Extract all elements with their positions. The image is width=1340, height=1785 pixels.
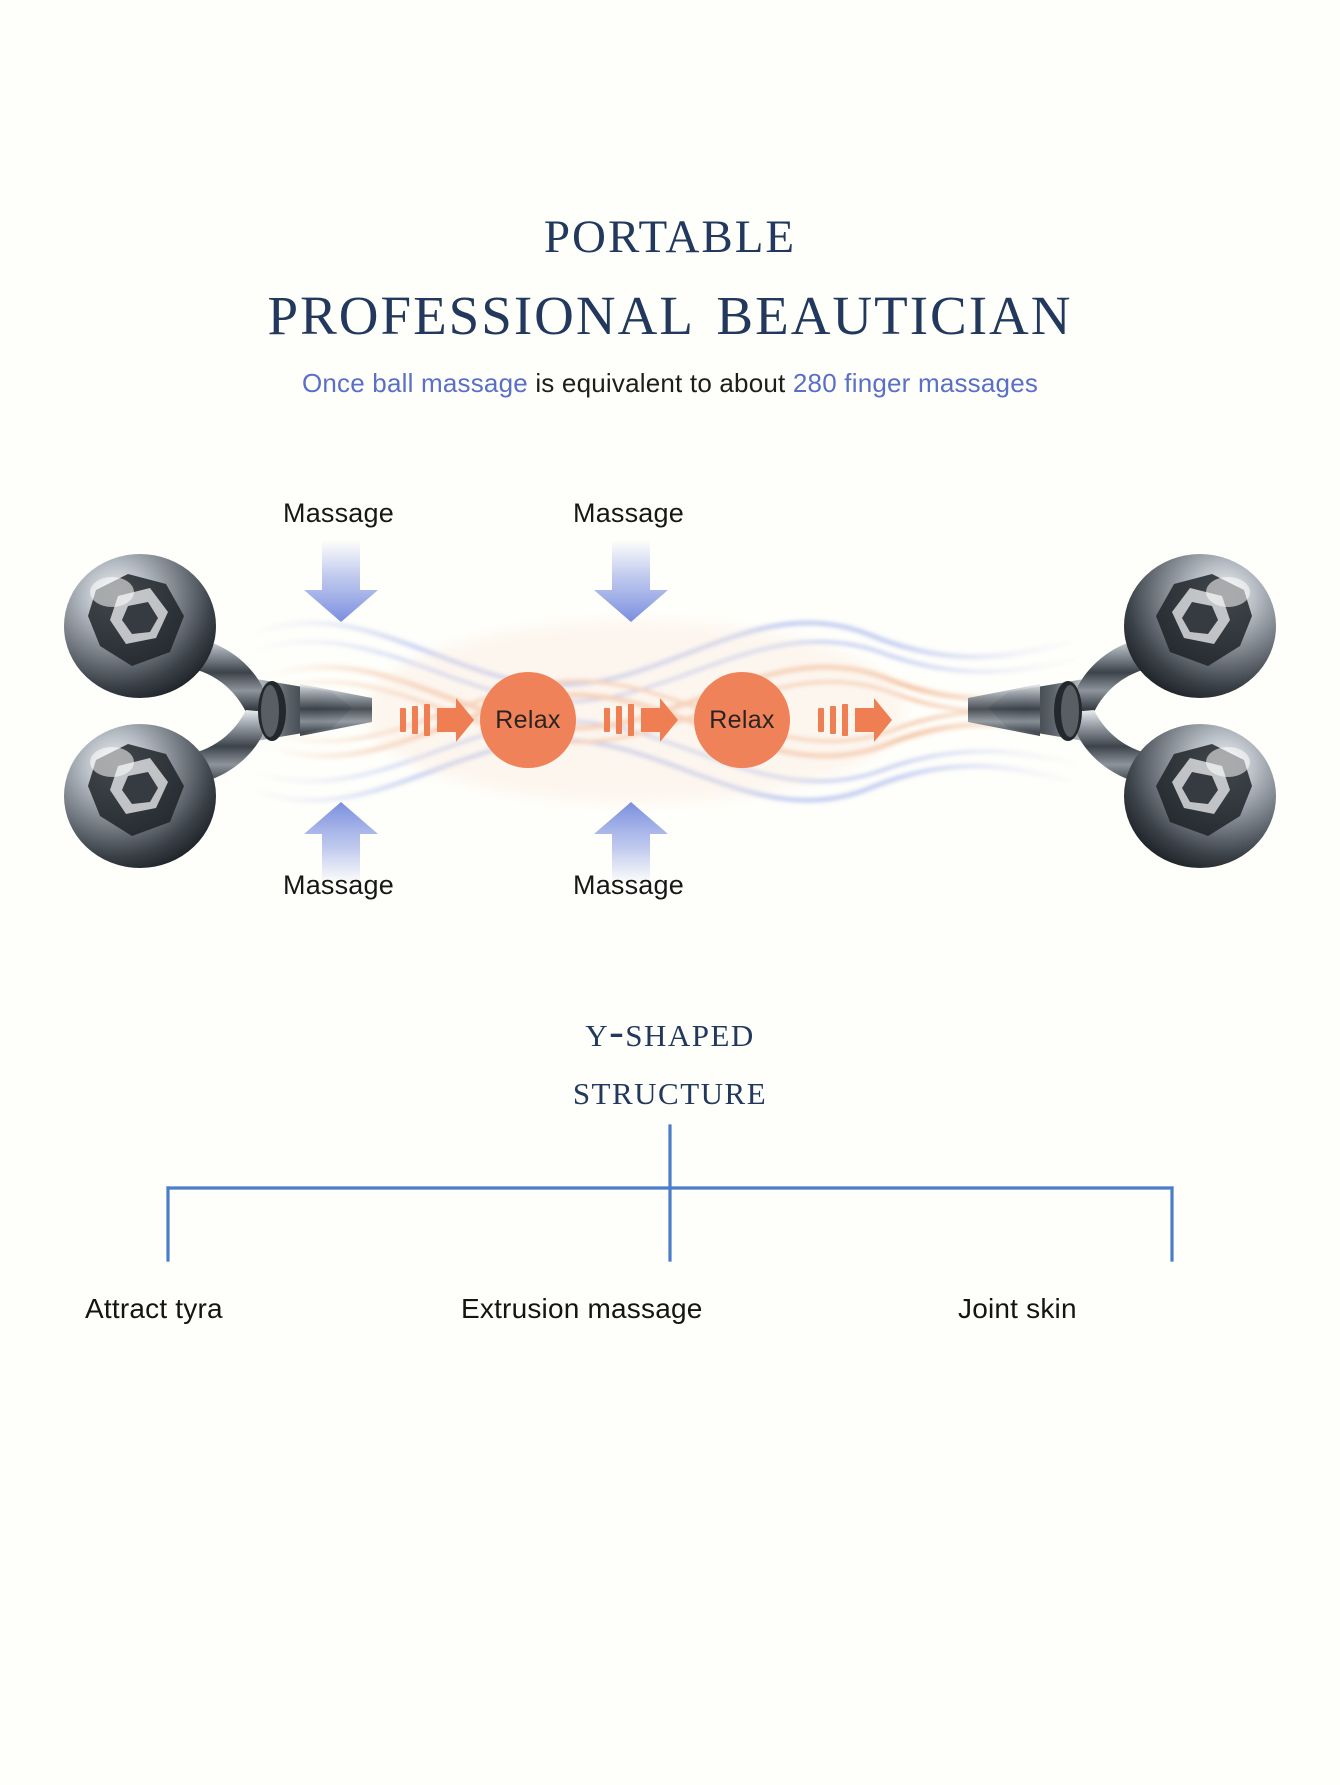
feature-label-joint-skin: Joint skin — [958, 1293, 1077, 1325]
feature-label-attract-tyra: Attract tyra — [85, 1293, 223, 1325]
infographic-page: Portable Professional Beautician Once ba… — [0, 0, 1340, 1785]
title-line-2: Professional Beautician — [0, 268, 1340, 348]
structure-heading-line-2: Structure — [0, 1061, 1340, 1119]
structure-heading: Y-Shaped Structure — [0, 1003, 1340, 1119]
subtitle-part-1: Once ball massage — [302, 368, 528, 398]
blue-down-arrow-2-icon — [594, 540, 668, 622]
page-title: Portable Professional Beautician — [0, 196, 1340, 348]
subtitle-part-3: 280 finger massages — [793, 368, 1038, 398]
massage-label-top-right: Massage — [573, 498, 684, 529]
massage-label-bottom-right: Massage — [573, 870, 684, 901]
massage-label-top-left: Massage — [283, 498, 394, 529]
title-line-1: Portable — [0, 196, 1340, 264]
subtitle: Once ball massage is equivalent to about… — [0, 368, 1340, 399]
massage-label-bottom-left: Massage — [283, 870, 394, 901]
feature-label-extrusion-massage: Extrusion massage — [461, 1293, 703, 1325]
relax-badge-1: Relax — [480, 672, 576, 768]
massage-roller-right-icon — [968, 554, 1276, 868]
feature-bracket — [0, 1120, 1340, 1290]
structure-heading-line-1: Y-Shaped — [0, 1003, 1340, 1061]
massage-flow-diagram: Massage Massage Massage Massage Relax Re… — [0, 440, 1340, 980]
relax-badge-2: Relax — [694, 672, 790, 768]
subtitle-part-2: is equivalent to about — [528, 368, 793, 398]
blue-down-arrow-1-icon — [304, 540, 378, 622]
